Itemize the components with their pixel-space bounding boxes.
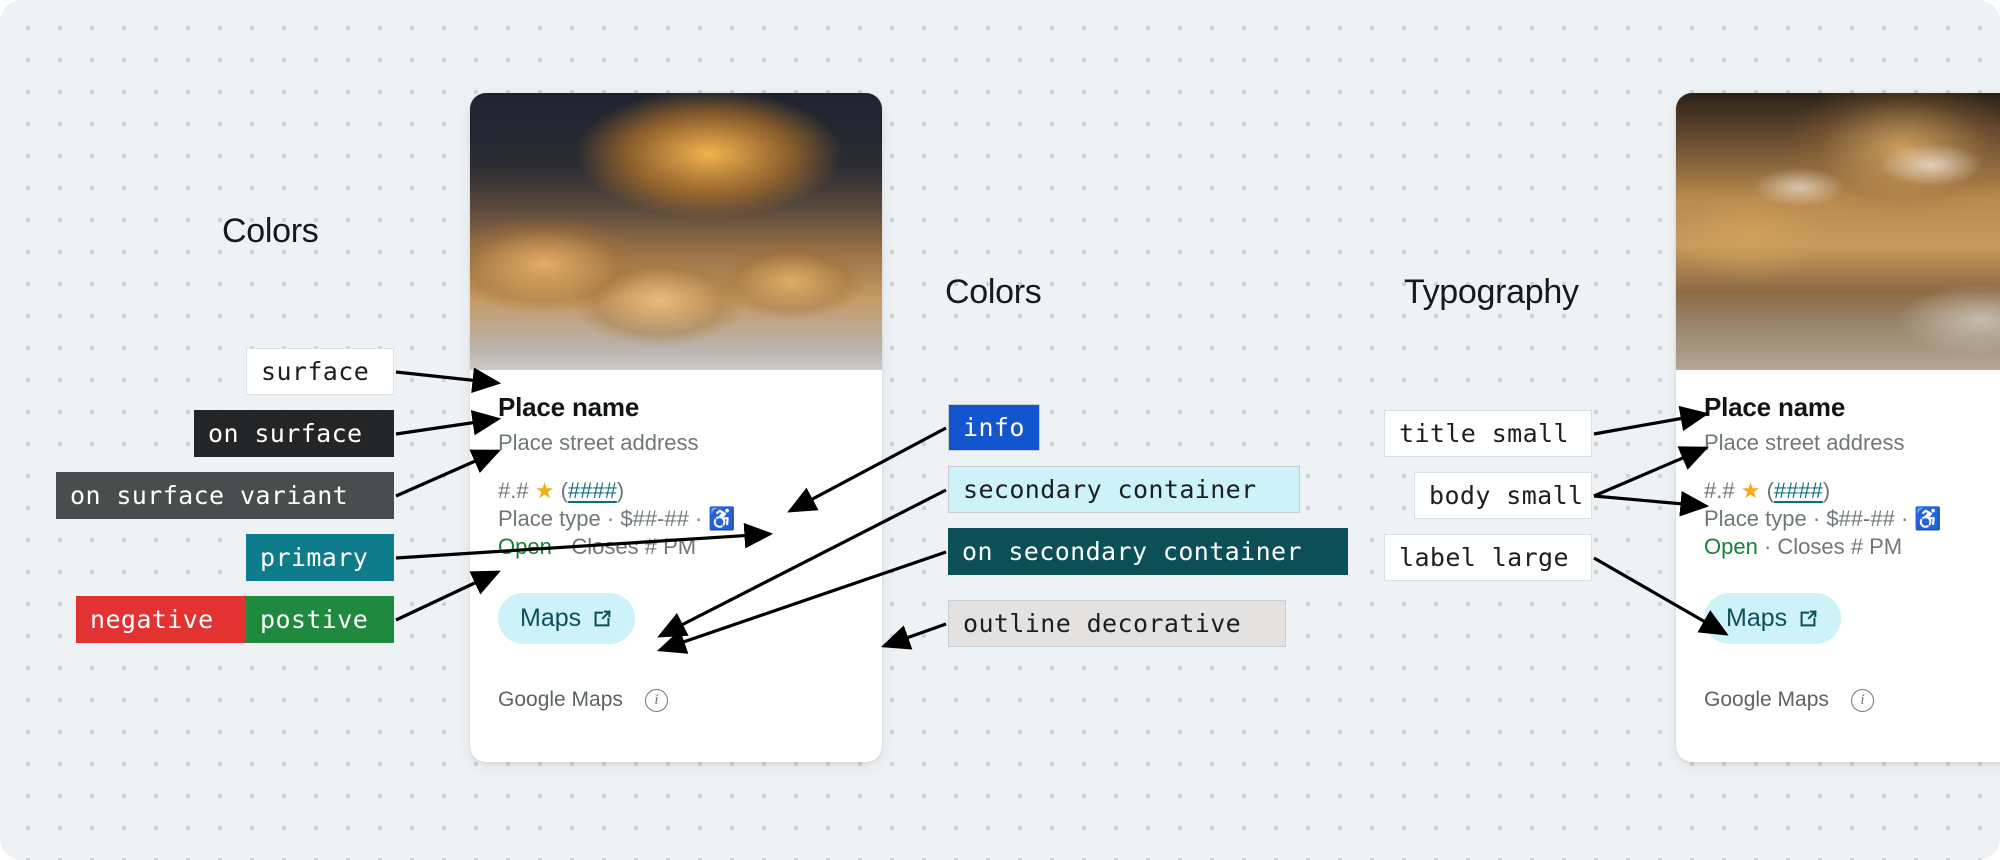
color-chip-primary[interactable]: primary [246,534,394,581]
external-link-icon [1797,608,1819,630]
place-type: Place type [1704,506,1807,531]
separator-dot: · [695,506,702,531]
rating-close-paren: ) [1823,478,1830,503]
separator-dot: · [558,534,565,559]
google-maps-attribution: Google Maps [498,688,623,712]
color-chip-label: on surface variant [70,483,348,508]
typography-chip-body-small[interactable]: body small [1414,472,1592,519]
color-chip-label: secondary container [963,477,1257,502]
section-title-typography: Typography [1404,273,1579,312]
place-type: Place type [498,506,601,531]
maps-button[interactable]: Maps [498,593,635,644]
rating-value: #.# [498,478,529,503]
google-maps-attribution: Google Maps [1704,688,1829,712]
typography-chip-label: body small [1429,483,1584,508]
color-chip-label: outline decorative [963,611,1241,636]
external-link-icon [591,608,613,630]
place-photo [1676,93,2000,370]
rating-open-paren: ( [561,478,568,503]
place-hours-row: Open · Closes # PM [498,534,854,560]
rating-count-link[interactable]: #### [1774,478,1823,503]
place-card-right[interactable]: Place name Place street address #.# ★ (#… [1676,93,2000,762]
place-type-row: Place type · $##-## · ♿ [1704,506,2000,532]
closing-time-label: Closes # PM [1777,534,1902,559]
bakery-photo-image [470,93,882,370]
maps-button-label: Maps [1726,604,1787,633]
star-icon: ★ [535,478,555,503]
place-address: Place street address [498,430,854,456]
rating-count-link[interactable]: #### [568,478,617,503]
typography-chip-label-large[interactable]: label large [1384,534,1592,581]
separator-dot: · [1813,506,1820,531]
section-title-colors-center: Colors [945,273,1041,312]
color-chip-label: primary [260,545,368,570]
design-annotation-canvas: Colors Colors Typography surface on surf… [0,0,2000,860]
color-chip-label: negative [90,607,214,632]
place-card-body: Place name Place street address #.# ★ (#… [1676,370,2000,712]
rating-close-paren: ) [617,478,624,503]
color-chip-negative[interactable]: negative [76,596,246,643]
price-range: $##-## [1826,506,1895,531]
place-name: Place name [498,392,854,423]
color-chip-postive[interactable]: postive [246,596,394,643]
typography-chip-label: title small [1399,421,1569,446]
wheelchair-accessible-icon: ♿ [1914,506,1941,531]
place-address: Place street address [1704,430,2000,456]
separator-dot: · [1901,506,1908,531]
arrow-outline-decorative [884,624,946,646]
card-footer: Google Maps i [498,688,854,712]
closing-time-label: Closes # PM [571,534,696,559]
color-chip-label: on secondary container [962,539,1302,564]
section-title-colors-left: Colors [222,212,318,251]
separator-dot: · [1764,534,1771,559]
color-chip-label: postive [260,607,368,632]
separator-dot: · [607,506,614,531]
cafe-photo-image [1676,93,2000,370]
card-footer: Google Maps i [1704,688,2000,712]
color-chip-on-secondary-container[interactable]: on secondary container [948,528,1348,575]
color-chip-label: surface [261,359,369,384]
color-chip-on-surface[interactable]: on surface [194,410,394,457]
color-chip-label: info [963,415,1025,440]
rating-open-paren: ( [1767,478,1774,503]
maps-button-label: Maps [520,604,581,633]
place-rating-row: #.# ★ (####) [498,478,854,504]
color-chip-label: on surface [208,421,363,446]
color-chip-outline-decorative[interactable]: outline decorative [948,600,1286,647]
info-icon[interactable]: i [645,689,668,712]
open-status-label: Open [1704,534,1758,559]
place-card-body: Place name Place street address #.# ★ (#… [470,370,882,712]
place-hours-row: Open · Closes # PM [1704,534,2000,560]
color-chip-info[interactable]: info [948,404,1040,451]
color-chip-surface[interactable]: surface [246,348,394,395]
color-chip-on-surface-variant[interactable]: on surface variant [56,472,394,519]
star-icon: ★ [1741,478,1761,503]
place-card-center[interactable]: Place name Place street address #.# ★ (#… [470,93,882,762]
place-type-row: Place type · $##-## · ♿ [498,506,854,532]
price-range: $##-## [620,506,689,531]
maps-button[interactable]: Maps [1704,593,1841,644]
info-icon[interactable]: i [1851,689,1874,712]
place-rating-row: #.# ★ (####) [1704,478,2000,504]
wheelchair-accessible-icon: ♿ [708,506,735,531]
place-photo [470,93,882,370]
typography-chip-title-small[interactable]: title small [1384,410,1592,457]
typography-chip-label: label large [1399,545,1569,570]
rating-value: #.# [1704,478,1735,503]
open-status-label: Open [498,534,552,559]
place-name: Place name [1704,392,2000,423]
color-chip-secondary-container[interactable]: secondary container [948,466,1300,513]
